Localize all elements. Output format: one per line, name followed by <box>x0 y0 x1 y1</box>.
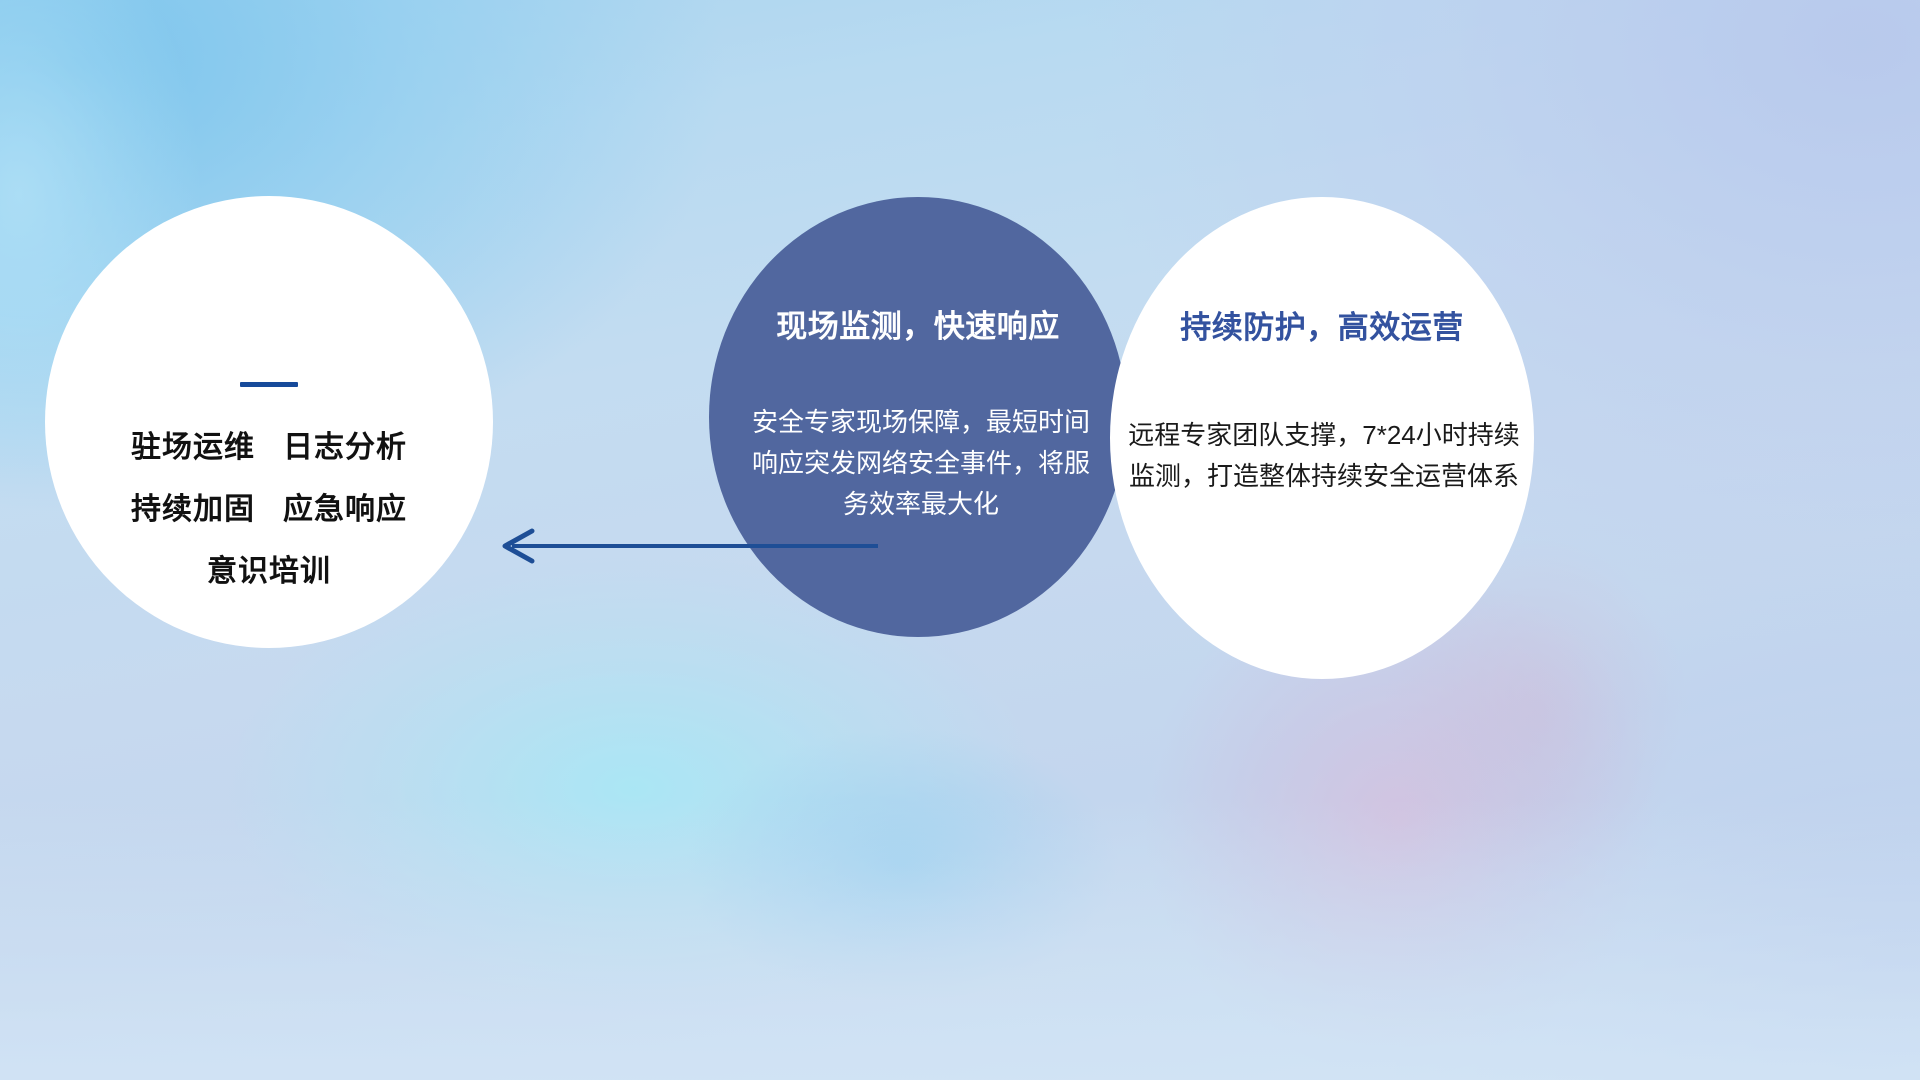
continuous-protection-circle: 持续防护，高效运营 远程专家团队支撑，7*24小时持续监测，打造整体持续安全运营… <box>1110 197 1534 679</box>
onsite-monitoring-title: 现场监测，快速响应 <box>709 301 1127 346</box>
flow-arrow-icon <box>488 518 878 574</box>
continuous-protection-body: 远程专家团队支撑，7*24小时持续监测，打造整体持续安全运营体系 <box>1126 415 1522 497</box>
slide-canvas: 驻场运维 日志分析 持续加固 应急响应 意识培训 现场监测，快速响应 安全专家现… <box>0 0 1920 1080</box>
capabilities-content: 驻场运维 日志分析 持续加固 应急响应 意识培训 <box>45 382 493 587</box>
accent-dash-icon <box>240 382 298 387</box>
capability-line-1: 驻场运维 日志分析 <box>45 433 493 463</box>
continuous-protection-title: 持续防护，高效运营 <box>1110 302 1534 347</box>
flow-arrow <box>488 518 878 574</box>
capabilities-circle: 驻场运维 日志分析 持续加固 应急响应 意识培训 <box>45 196 493 648</box>
capability-line-2: 持续加固 应急响应 <box>45 495 493 525</box>
capability-line-3: 意识培训 <box>45 557 493 587</box>
onsite-monitoring-body: 安全专家现场保障，最短时间响应突发网络安全事件，将服务效率最大化 <box>743 402 1099 525</box>
